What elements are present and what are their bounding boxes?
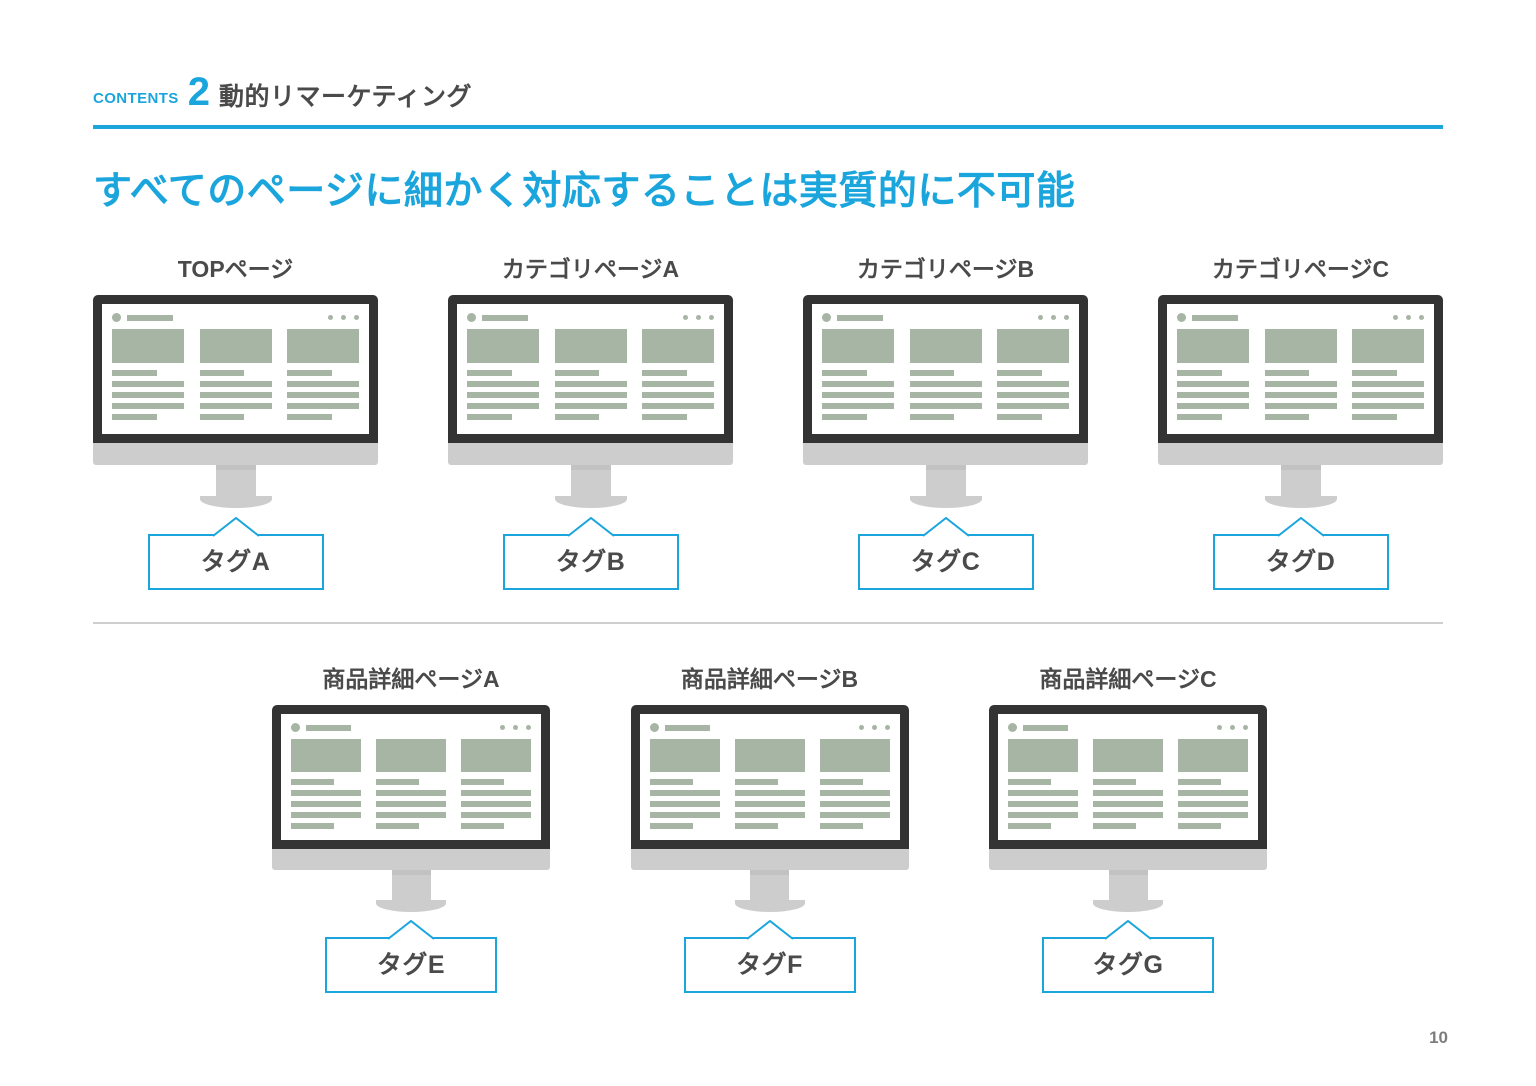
monitor-bezel	[1158, 295, 1443, 443]
monitor-bezel	[93, 295, 378, 443]
wireframe-topbar	[1008, 723, 1248, 732]
wireframe-column	[997, 329, 1069, 420]
wireframe-brand	[650, 723, 710, 732]
monitor-base	[448, 443, 733, 465]
page-title: すべてのページに細かく対応することは実質的に不可能	[93, 172, 1075, 211]
wireframe-columns	[112, 329, 359, 420]
tag-bubble-pointer-icon	[747, 920, 793, 940]
wireframe-column	[287, 329, 359, 420]
wireframe-text-line	[1177, 381, 1249, 387]
wireframe-text-line	[112, 370, 157, 376]
wireframe-column	[200, 329, 272, 420]
monitor-bezel	[803, 295, 1088, 443]
menu-dot-icon	[1406, 315, 1411, 320]
wireframe-text-line	[910, 370, 955, 376]
wireframe-brand-line	[306, 725, 351, 731]
wireframe-text-line	[822, 414, 867, 420]
wireframe-column	[555, 329, 627, 420]
tag-label: タグB	[556, 550, 626, 575]
wireframe-text-line	[1093, 823, 1136, 829]
wireframe-text-line	[1008, 801, 1078, 807]
page-label: 商品詳細ページA	[322, 668, 499, 691]
wireframe-text-line	[112, 392, 184, 398]
monitor-foot	[376, 900, 446, 912]
wireframe-text-line	[822, 370, 867, 376]
contents-kicker: CONTENTS	[93, 91, 179, 106]
wireframe-brand	[1177, 313, 1238, 322]
monitor-illustration	[448, 295, 733, 508]
wireframe-text-line	[735, 790, 805, 796]
wireframe-text-line	[1093, 779, 1136, 785]
wireframe-image-block	[820, 739, 890, 772]
wireframe-text-line	[291, 801, 361, 807]
wireframe-image-block	[1178, 739, 1248, 772]
menu-dots-icon	[1038, 315, 1069, 320]
wireframe-text-line	[735, 801, 805, 807]
wireframe-text-line	[1178, 823, 1221, 829]
logo-dot-icon	[467, 313, 476, 322]
wireframe-columns	[467, 329, 714, 420]
menu-dot-icon	[1051, 315, 1056, 320]
monitor-stand	[750, 875, 789, 900]
wireframe-brand-line	[1192, 315, 1238, 321]
wireframe-image-block	[200, 329, 272, 363]
wireframe-text-line	[555, 414, 600, 420]
monitor-screen	[457, 304, 724, 434]
wireframe-column	[112, 329, 184, 420]
wireframe-text-line	[555, 392, 627, 398]
tag-bubble-pointer-icon	[1278, 517, 1324, 537]
wireframe-text-line	[1008, 779, 1051, 785]
wireframe-column	[1177, 329, 1249, 420]
wireframe-text-line	[200, 370, 245, 376]
wireframe-text-line	[650, 812, 720, 818]
wireframe-text-line	[997, 403, 1069, 409]
monitor-screen	[1167, 304, 1434, 434]
wireframe-text-line	[650, 779, 693, 785]
logo-dot-icon	[112, 313, 121, 322]
wireframe-column	[1265, 329, 1337, 420]
wireframe-image-block	[650, 739, 720, 772]
contents-title: 動的リマーケティング	[219, 85, 472, 110]
wireframe-text-line	[200, 381, 272, 387]
page-group: カテゴリページAタグB	[448, 258, 733, 590]
wireframe-text-line	[650, 801, 720, 807]
wireframe-text-line	[555, 381, 627, 387]
monitor-stand	[926, 470, 966, 496]
contents-number: 2	[188, 72, 209, 112]
menu-dots-icon	[1393, 315, 1424, 320]
wireframe-brand	[467, 313, 528, 322]
monitor-screen	[281, 714, 541, 840]
page-group: 商品詳細ページBタグF	[631, 668, 909, 993]
wireframe-text-line	[112, 403, 184, 409]
wireframe-text-line	[1093, 812, 1163, 818]
wireframe-text-line	[287, 403, 359, 409]
wireframe-image-block	[555, 329, 627, 363]
wireframe-text-line	[291, 779, 334, 785]
wireframe-text-line	[1008, 812, 1078, 818]
wireframe-text-line	[467, 370, 512, 376]
wireframe-text-line	[287, 370, 332, 376]
wireframe-text-line	[291, 812, 361, 818]
wireframe-text-line	[1093, 801, 1163, 807]
tag-bubble-pointer-icon	[388, 920, 434, 940]
wireframe-text-line	[997, 370, 1042, 376]
wireframe-brand	[112, 313, 173, 322]
wireframe-image-block	[1265, 329, 1337, 363]
menu-dot-icon	[341, 315, 346, 320]
wireframe-text-line	[735, 823, 778, 829]
wireframe-text-line	[287, 381, 359, 387]
page-label: カテゴリページB	[857, 258, 1034, 281]
tag-label: タグA	[201, 550, 271, 575]
page-label: TOPページ	[178, 258, 293, 281]
monitor-foot	[1265, 496, 1337, 508]
tag-bubble-pointer-icon	[923, 517, 969, 537]
monitor-illustration	[803, 295, 1088, 508]
wireframe-columns	[650, 739, 890, 829]
wireframe-text-line	[1178, 779, 1221, 785]
wireframe-text-line	[376, 801, 446, 807]
wireframe-image-block	[997, 329, 1069, 363]
wireframe-text-line	[910, 381, 982, 387]
wireframe-text-line	[467, 381, 539, 387]
monitor-screen	[640, 714, 900, 840]
wireframe-topbar	[650, 723, 890, 732]
tag-label: タグC	[911, 550, 981, 575]
monitor-bezel	[272, 705, 550, 849]
header-underline	[93, 125, 1443, 129]
wireframe-image-block	[291, 739, 361, 772]
wireframe-text-line	[910, 414, 955, 420]
menu-dots-icon	[1217, 725, 1248, 730]
wireframe-text-line	[461, 823, 504, 829]
wireframe-columns	[291, 739, 531, 829]
menu-dot-icon	[885, 725, 890, 730]
monitor-illustration	[631, 705, 909, 912]
tag-bubble[interactable]: タグE	[325, 937, 497, 993]
monitor-stand	[1281, 470, 1321, 496]
menu-dots-icon	[859, 725, 890, 730]
wireframe-text-line	[376, 812, 446, 818]
monitor-stand	[571, 470, 611, 496]
menu-dot-icon	[709, 315, 714, 320]
monitor-base	[803, 443, 1088, 465]
wireframe-text-line	[642, 381, 714, 387]
wireframe-text-line	[555, 403, 627, 409]
monitor-screen	[812, 304, 1079, 434]
wireframe-text-line	[1352, 392, 1424, 398]
menu-dots-icon	[500, 725, 531, 730]
wireframe-text-line	[997, 381, 1069, 387]
wireframe-text-line	[461, 790, 531, 796]
menu-dot-icon	[1230, 725, 1235, 730]
wireframe-text-line	[112, 381, 184, 387]
monitor-base	[989, 849, 1267, 870]
wireframe-brand	[822, 313, 883, 322]
page-group: 商品詳細ページAタグE	[272, 668, 550, 993]
wireframe-text-line	[376, 779, 419, 785]
menu-dots-icon	[328, 315, 359, 320]
wireframe-brand	[291, 723, 351, 732]
tag-bubble-pointer-icon	[213, 517, 259, 537]
wireframe-text-line	[291, 823, 334, 829]
logo-dot-icon	[650, 723, 659, 732]
menu-dot-icon	[513, 725, 518, 730]
wireframe-text-line	[1178, 790, 1248, 796]
wireframe-column	[1093, 739, 1163, 829]
wireframe-text-line	[910, 392, 982, 398]
page-group: カテゴリページBタグC	[803, 258, 1088, 590]
wireframe-text-line	[820, 823, 863, 829]
wireframe-text-line	[735, 779, 778, 785]
wireframe-text-line	[820, 779, 863, 785]
wireframe-text-line	[1177, 392, 1249, 398]
page-group: TOPページタグA	[93, 258, 378, 590]
wireframe-text-line	[650, 790, 720, 796]
wireframe-image-block	[910, 329, 982, 363]
wireframe-brand-line	[127, 315, 173, 321]
menu-dot-icon	[354, 315, 359, 320]
wireframe-column	[467, 329, 539, 420]
wireframe-image-block	[735, 739, 805, 772]
menu-dot-icon	[500, 725, 505, 730]
monitor-foot	[910, 496, 982, 508]
wireframe-text-line	[200, 403, 272, 409]
wireframe-text-line	[200, 392, 272, 398]
header-row: CONTENTS 2 動的リマーケティング	[93, 72, 1443, 114]
wireframe-column	[1178, 739, 1248, 829]
wireframe-image-block	[642, 329, 714, 363]
page-group: 商品詳細ページCタグG	[989, 668, 1267, 993]
monitor-screen	[998, 714, 1258, 840]
wireframe-text-line	[1265, 381, 1337, 387]
wireframe-text-line	[997, 392, 1069, 398]
monitor-base	[272, 849, 550, 870]
wireframe-text-line	[467, 403, 539, 409]
monitor-illustration	[272, 705, 550, 912]
wireframe-text-line	[910, 403, 982, 409]
wireframe-text-line	[555, 370, 600, 376]
wireframe-text-line	[642, 392, 714, 398]
wireframe-image-block	[112, 329, 184, 363]
wireframe-text-line	[1178, 801, 1248, 807]
monitor-foot	[735, 900, 805, 912]
monitor-foot	[200, 496, 272, 508]
page-row-product-detail: 商品詳細ページAタグE商品詳細ページBタグF商品詳細ページCタグG	[272, 668, 1267, 993]
tag-label: タグD	[1266, 550, 1336, 575]
wireframe-text-line	[467, 414, 512, 420]
menu-dot-icon	[1243, 725, 1248, 730]
page-row-top-and-category: TOPページタグAカテゴリページAタグBカテゴリページBタグCカテゴリページCタ…	[93, 258, 1443, 590]
menu-dot-icon	[1217, 725, 1222, 730]
monitor-bezel	[448, 295, 733, 443]
wireframe-text-line	[461, 779, 504, 785]
wireframe-columns	[1177, 329, 1424, 420]
wireframe-image-block	[822, 329, 894, 363]
wireframe-column	[461, 739, 531, 829]
wireframe-text-line	[1352, 403, 1424, 409]
menu-dot-icon	[683, 315, 688, 320]
wireframe-column	[1352, 329, 1424, 420]
wireframe-text-line	[822, 381, 894, 387]
wireframe-column	[820, 739, 890, 829]
wireframe-brand-line	[837, 315, 883, 321]
wireframe-text-line	[820, 812, 890, 818]
monitor-foot	[555, 496, 627, 508]
wireframe-image-block	[461, 739, 531, 772]
wireframe-text-line	[1352, 370, 1397, 376]
wireframe-text-line	[1177, 370, 1222, 376]
wireframe-column	[735, 739, 805, 829]
slide-header: CONTENTS 2 動的リマーケティング	[93, 72, 1443, 129]
wireframe-brand-line	[1023, 725, 1068, 731]
wireframe-text-line	[376, 823, 419, 829]
wireframe-topbar	[467, 313, 714, 322]
tag-label: タグG	[1093, 953, 1164, 978]
row-divider	[93, 622, 1443, 624]
wireframe-topbar	[822, 313, 1069, 322]
wireframe-text-line	[1265, 403, 1337, 409]
monitor-illustration	[1158, 295, 1443, 508]
menu-dot-icon	[1393, 315, 1398, 320]
menu-dot-icon	[328, 315, 333, 320]
wireframe-text-line	[822, 392, 894, 398]
wireframe-image-block	[1177, 329, 1249, 363]
wireframe-text-line	[1352, 414, 1397, 420]
tag-label: タグF	[736, 953, 803, 978]
wireframe-image-block	[1352, 329, 1424, 363]
wireframe-image-block	[1008, 739, 1078, 772]
menu-dot-icon	[872, 725, 877, 730]
wireframe-text-line	[822, 403, 894, 409]
page-number: 10	[1429, 1028, 1448, 1048]
tag-bubble[interactable]: タグF	[684, 937, 856, 993]
wireframe-image-block	[467, 329, 539, 363]
monitor-stand	[1109, 875, 1148, 900]
wireframe-text-line	[200, 414, 245, 420]
monitor-stand	[392, 875, 431, 900]
tag-bubble[interactable]: タグA	[148, 534, 324, 590]
page-label: カテゴリページA	[502, 258, 679, 281]
wireframe-text-line	[1093, 790, 1163, 796]
monitor-bezel	[989, 705, 1267, 849]
menu-dots-icon	[683, 315, 714, 320]
tag-bubble-pointer-icon	[1105, 920, 1151, 940]
menu-dot-icon	[1038, 315, 1043, 320]
menu-dot-icon	[696, 315, 701, 320]
monitor-stand	[216, 470, 256, 496]
wireframe-brand	[1008, 723, 1068, 732]
monitor-screen	[102, 304, 369, 434]
wireframe-text-line	[461, 801, 531, 807]
menu-dot-icon	[526, 725, 531, 730]
tag-bubble[interactable]: タグD	[1213, 534, 1389, 590]
wireframe-columns	[822, 329, 1069, 420]
monitor-base	[1158, 443, 1443, 465]
wireframe-text-line	[287, 414, 332, 420]
wireframe-image-block	[287, 329, 359, 363]
wireframe-text-line	[642, 414, 687, 420]
wireframe-text-line	[1352, 381, 1424, 387]
monitor-bezel	[631, 705, 909, 849]
page-group: カテゴリページCタグD	[1158, 258, 1443, 590]
wireframe-text-line	[642, 370, 687, 376]
page-label: 商品詳細ページB	[681, 668, 858, 691]
tag-bubble[interactable]: タグC	[858, 534, 1034, 590]
wireframe-text-line	[291, 790, 361, 796]
wireframe-column	[642, 329, 714, 420]
wireframe-brand-line	[665, 725, 710, 731]
menu-dot-icon	[1419, 315, 1424, 320]
logo-dot-icon	[822, 313, 831, 322]
wireframe-text-line	[642, 403, 714, 409]
wireframe-text-line	[112, 414, 157, 420]
wireframe-text-line	[376, 790, 446, 796]
wireframe-text-line	[820, 801, 890, 807]
wireframe-text-line	[650, 823, 693, 829]
wireframe-topbar	[112, 313, 359, 322]
monitor-foot	[1093, 900, 1163, 912]
monitor-illustration	[93, 295, 378, 508]
wireframe-text-line	[461, 812, 531, 818]
wireframe-text-line	[1008, 790, 1078, 796]
tag-bubble[interactable]: タグG	[1042, 937, 1214, 993]
wireframe-image-block	[1093, 739, 1163, 772]
wireframe-brand-line	[482, 315, 528, 321]
wireframe-column	[291, 739, 361, 829]
monitor-illustration	[989, 705, 1267, 912]
wireframe-column	[1008, 739, 1078, 829]
monitor-base	[93, 443, 378, 465]
wireframe-columns	[1008, 739, 1248, 829]
wireframe-text-line	[467, 392, 539, 398]
wireframe-column	[822, 329, 894, 420]
wireframe-text-line	[1265, 392, 1337, 398]
wireframe-text-line	[1177, 414, 1222, 420]
wireframe-text-line	[1265, 414, 1310, 420]
tag-label: タグE	[377, 953, 445, 978]
wireframe-column	[910, 329, 982, 420]
tag-bubble[interactable]: タグB	[503, 534, 679, 590]
menu-dot-icon	[1064, 315, 1069, 320]
wireframe-text-line	[820, 790, 890, 796]
wireframe-text-line	[997, 414, 1042, 420]
wireframe-topbar	[1177, 313, 1424, 322]
menu-dot-icon	[859, 725, 864, 730]
wireframe-text-line	[735, 812, 805, 818]
wireframe-column	[376, 739, 446, 829]
tag-bubble-pointer-icon	[568, 517, 614, 537]
wireframe-text-line	[1177, 403, 1249, 409]
wireframe-image-block	[376, 739, 446, 772]
wireframe-column	[650, 739, 720, 829]
logo-dot-icon	[1177, 313, 1186, 322]
wireframe-text-line	[1265, 370, 1310, 376]
wireframe-text-line	[1008, 823, 1051, 829]
wireframe-topbar	[291, 723, 531, 732]
logo-dot-icon	[1008, 723, 1017, 732]
page-label: 商品詳細ページC	[1039, 668, 1216, 691]
logo-dot-icon	[291, 723, 300, 732]
page-label: カテゴリページC	[1212, 258, 1389, 281]
monitor-base	[631, 849, 909, 870]
wireframe-text-line	[1178, 812, 1248, 818]
wireframe-text-line	[287, 392, 359, 398]
